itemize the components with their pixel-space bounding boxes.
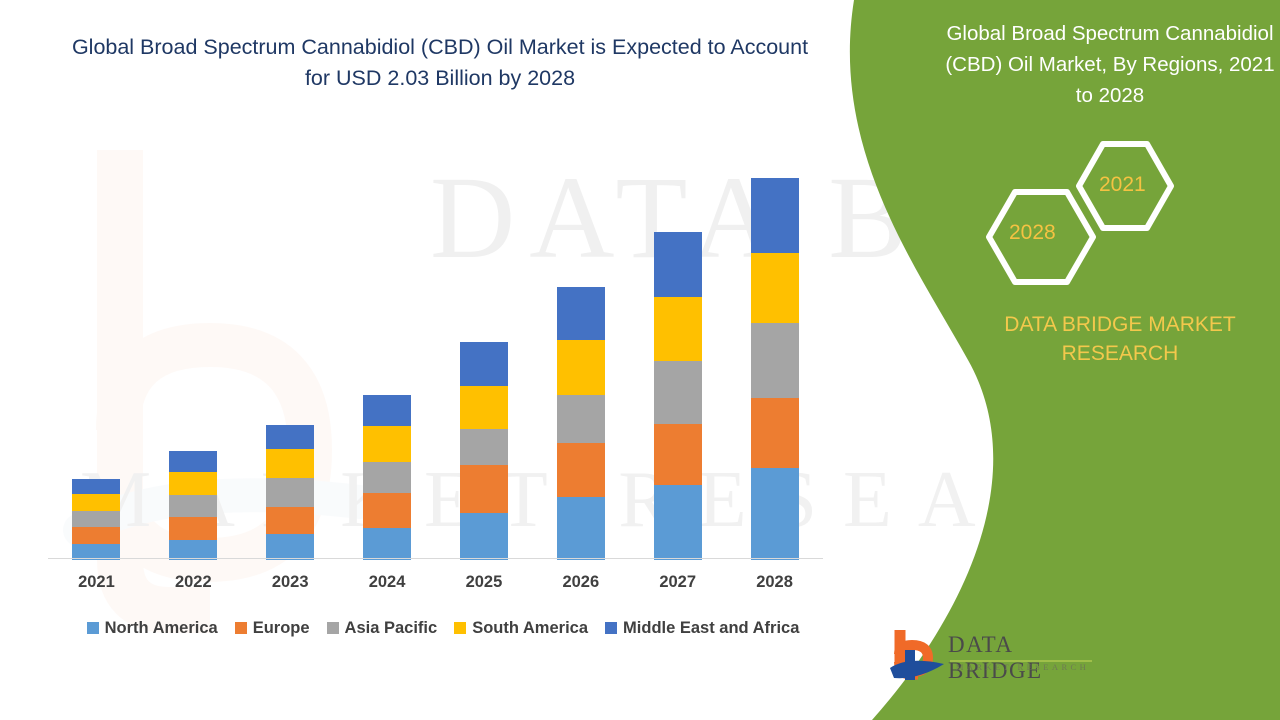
bar-segment-asia-pacific: [751, 323, 799, 398]
hexagon-badges: 2021 2028: [975, 140, 1195, 285]
hexagon-badge-2028: 2028: [1009, 221, 1056, 245]
bar-segment-north-america: [654, 485, 702, 560]
legend-item-asia-pacific[interactable]: Asia Pacific: [327, 619, 438, 638]
bar-segment-north-america: [266, 534, 314, 560]
x-axis-label-2024: 2024: [347, 573, 427, 592]
bar-segment-south-america: [169, 472, 217, 496]
stacked-bar-chart: [48, 150, 823, 560]
x-axis-line: [48, 558, 823, 559]
bar-segment-north-america: [460, 513, 508, 560]
bar-segment-europe: [169, 517, 217, 540]
x-axis-label-2021: 2021: [56, 573, 136, 592]
x-axis-label-2026: 2026: [541, 573, 621, 592]
x-axis-label-2028: 2028: [735, 573, 815, 592]
bar-segment-europe: [557, 443, 605, 497]
bar-2026: [557, 287, 605, 560]
bar-2027: [654, 232, 702, 560]
bar-segment-middle-east-and-africa: [169, 451, 217, 472]
legend-item-south-america[interactable]: South America: [454, 619, 588, 638]
x-axis-label-2027: 2027: [638, 573, 718, 592]
legend-swatch-icon: [454, 622, 466, 634]
bar-2028: [751, 178, 799, 560]
bar-segment-middle-east-and-africa: [557, 287, 605, 339]
legend-swatch-icon: [605, 622, 617, 634]
bar-segment-south-america: [460, 386, 508, 429]
infographic-canvas: DATA BRIDGE MARKET RESEARCH Global Broad…: [0, 0, 1280, 720]
bar-segment-north-america: [169, 540, 217, 561]
legend-swatch-icon: [87, 622, 99, 634]
legend-label: Asia Pacific: [345, 619, 438, 638]
bar-segment-asia-pacific: [363, 462, 411, 494]
bar-segment-asia-pacific: [72, 511, 120, 527]
x-axis-label-2022: 2022: [153, 573, 233, 592]
bar-segment-europe: [72, 527, 120, 543]
legend-label: Europe: [253, 619, 310, 638]
legend-label: South America: [472, 619, 588, 638]
hexagon-outlines: [975, 140, 1195, 285]
bar-segment-europe: [751, 398, 799, 468]
bar-segment-asia-pacific: [557, 395, 605, 443]
bar-2024: [363, 395, 411, 560]
brand-name-text: DATA BRIDGE MARKET RESEARCH: [960, 310, 1280, 368]
logo-mark-icon: [888, 628, 948, 686]
legend-item-north-america[interactable]: North America: [87, 619, 218, 638]
chart-legend: North AmericaEuropeAsia PacificSouth Ame…: [48, 615, 838, 641]
legend-swatch-icon: [235, 622, 247, 634]
bar-segment-europe: [460, 465, 508, 513]
bar-segment-asia-pacific: [266, 478, 314, 507]
bar-segment-south-america: [266, 449, 314, 478]
bar-segment-south-america: [557, 340, 605, 395]
bar-2025: [460, 342, 508, 560]
hexagon-badge-2021: 2021: [1099, 173, 1146, 197]
bar-segment-south-america: [751, 253, 799, 324]
x-axis-label-2025: 2025: [444, 573, 524, 592]
bar-segment-europe: [266, 507, 314, 535]
page-title: Global Broad Spectrum Cannabidiol (CBD) …: [60, 32, 820, 94]
bar-segment-north-america: [557, 497, 605, 560]
bar-segment-south-america: [363, 426, 411, 462]
legend-label: North America: [105, 619, 218, 638]
bar-segment-middle-east-and-africa: [654, 232, 702, 297]
bar-segment-europe: [363, 493, 411, 528]
bar-segment-north-america: [363, 528, 411, 560]
data-bridge-logo: DATA BRIDGE MARKET RESEARCH: [888, 628, 1108, 690]
x-axis-label-2023: 2023: [250, 573, 330, 592]
bar-segment-europe: [654, 424, 702, 486]
bar-2023: [266, 425, 314, 560]
bar-segment-north-america: [751, 468, 799, 560]
logo-tagline: MARKET RESEARCH: [950, 662, 1095, 672]
bar-segment-asia-pacific: [460, 429, 508, 465]
legend-item-europe[interactable]: Europe: [235, 619, 310, 638]
bar-2021: [72, 479, 120, 560]
bar-segment-middle-east-and-africa: [363, 395, 411, 426]
legend-item-middle-east-and-africa[interactable]: Middle East and Africa: [605, 619, 799, 638]
bar-segment-middle-east-and-africa: [751, 178, 799, 253]
bar-segment-asia-pacific: [169, 495, 217, 517]
bar-2022: [169, 451, 217, 560]
bar-segment-middle-east-and-africa: [266, 425, 314, 450]
bar-segment-south-america: [72, 494, 120, 510]
bar-segment-south-america: [654, 297, 702, 362]
bar-segment-middle-east-and-africa: [460, 342, 508, 386]
logo-wordmark: DATA BRIDGE: [948, 632, 1108, 684]
legend-label: Middle East and Africa: [623, 619, 799, 638]
bar-segment-asia-pacific: [654, 361, 702, 424]
x-axis-labels: 20212022202320242025202620272028: [48, 573, 823, 599]
green-panel-title: Global Broad Spectrum Cannabidiol (CBD) …: [945, 18, 1275, 111]
legend-swatch-icon: [327, 622, 339, 634]
bar-segment-middle-east-and-africa: [72, 479, 120, 494]
